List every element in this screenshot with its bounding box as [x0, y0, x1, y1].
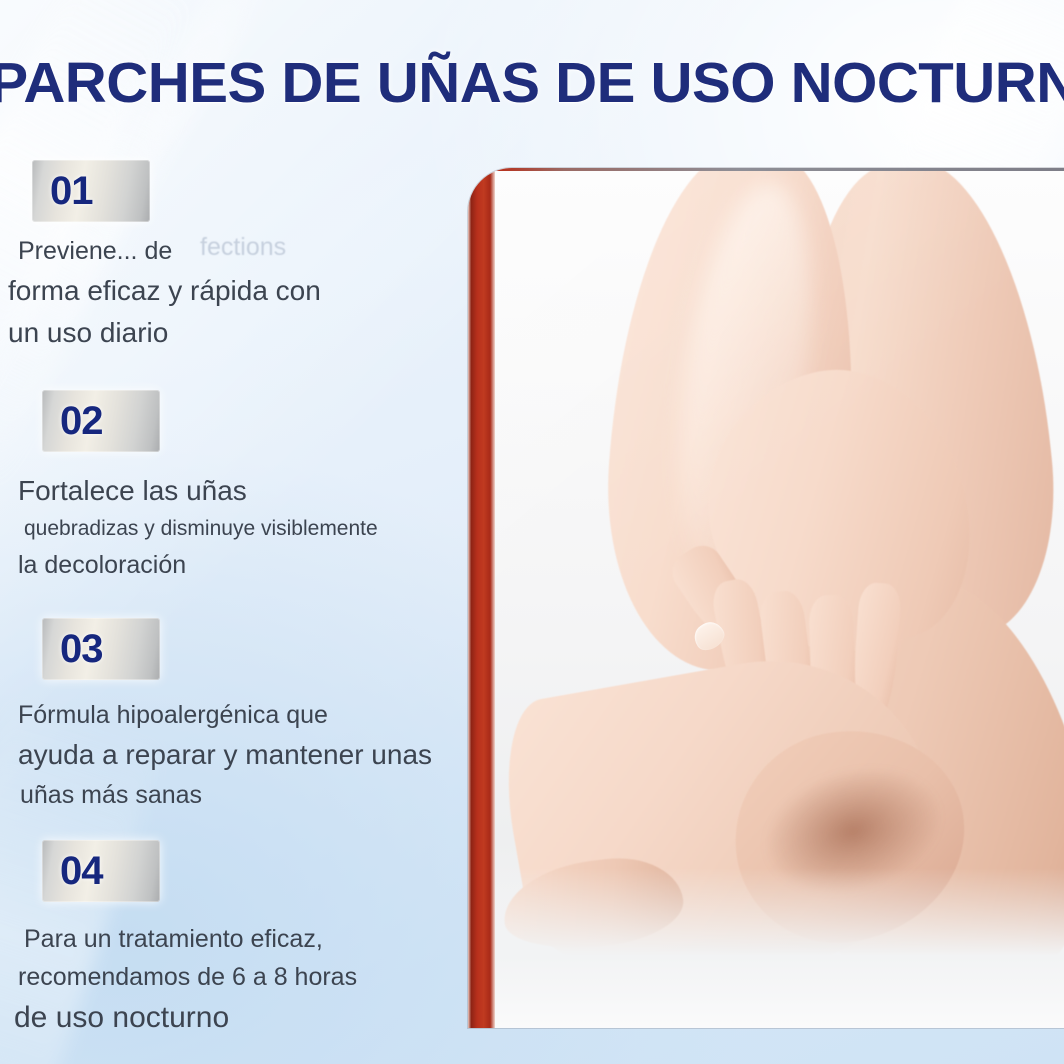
feature-line: de uso nocturno [14, 996, 472, 1040]
feature-line: un uso diario [8, 312, 472, 354]
feature-item-02: 02 Fortalece las uñas quebradizas y dism… [42, 390, 472, 584]
ghost-artifact-text: fections [200, 228, 286, 266]
feature-line: uñas más sanas [20, 776, 472, 814]
feature-item-03: 03 Fórmula hipoalergénica que ayuda a re… [42, 618, 472, 814]
feature-line: forma eficaz y rápida con [8, 270, 472, 312]
frame-top-edge [468, 168, 1064, 171]
product-infographic: PARCHES DE UÑAS DE USO NOCTURNO 01 Previ… [0, 0, 1064, 1064]
feature-text-01: Previene... de fections forma eficaz y r… [18, 232, 472, 354]
step-number: 01 [50, 169, 93, 214]
photo-light-wash [495, 171, 1064, 1028]
step-number: 02 [60, 399, 103, 444]
step-badge-01: 01 [32, 160, 150, 222]
feature-line: quebradizas y disminuye visiblemente [24, 512, 472, 546]
step-number: 04 [60, 849, 103, 894]
feature-text-03: Fórmula hipoalergénica que ayuda a repar… [18, 696, 472, 814]
step-badge-04: 04 [42, 840, 160, 902]
feature-item-04: 04 Para un tratamiento eficaz, recomenda… [42, 840, 472, 1040]
red-frame-bar [468, 168, 495, 1028]
feature-line: Fortalece las uñas [18, 470, 472, 512]
feature-line: recomendamos de 6 a 8 horas [18, 958, 472, 996]
step-badge-02: 02 [42, 390, 160, 452]
feature-line: Para un tratamiento eficaz, [24, 920, 472, 958]
feature-text-02: Fortalece las uñas quebradizas y disminu… [18, 470, 472, 584]
page-title: PARCHES DE UÑAS DE USO NOCTURNO [0, 52, 1064, 114]
step-number: 03 [60, 627, 103, 672]
feature-text-04: Para un tratamiento eficaz, recomendamos… [18, 920, 472, 1040]
step-badge-03: 03 [42, 618, 160, 680]
feature-list: 01 Previene... de fections forma eficaz … [0, 160, 472, 1040]
feature-line: la decoloración [18, 546, 472, 584]
feature-line: Fórmula hipoalergénica que [18, 696, 472, 734]
feature-item-01: 01 Previene... de fections forma eficaz … [32, 160, 472, 354]
feature-line: ayuda a reparar y mantener unas [18, 734, 472, 776]
product-photo [495, 171, 1064, 1028]
product-photo-frame [468, 168, 1064, 1028]
